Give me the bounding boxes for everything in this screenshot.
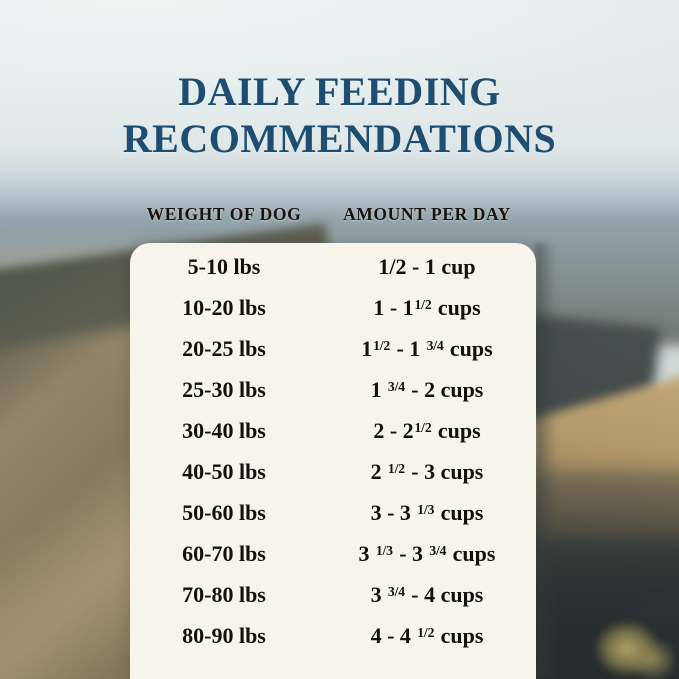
page-title-line-2: RECOMMENDATIONS: [0, 115, 679, 162]
table-row: 60-70 lbs3 1/3 - 3 3/4 cups: [130, 541, 536, 582]
cell-weight: 50-60 lbs: [130, 500, 318, 526]
feeding-chart-graphic: DAILY FEEDING RECOMMENDATIONS WEIGHT OF …: [0, 0, 679, 679]
table-row: 20-25 lbs11/2 - 1 3/4 cups: [130, 336, 536, 377]
table-column-headers: WEIGHT OF DOG AMOUNT PER DAY: [130, 204, 536, 225]
background-card-edge-shadow: [535, 243, 557, 679]
table-row: 5-10 lbs1/2 - 1 cup: [130, 254, 536, 295]
cell-amount: 2 1/2 - 3 cups: [318, 459, 536, 485]
cell-weight: 70-80 lbs: [130, 582, 318, 608]
table-row: 25-30 lbs1 3/4 - 2 cups: [130, 377, 536, 418]
cell-amount: 3 - 3 1/3 cups: [318, 500, 536, 526]
page-title: DAILY FEEDING RECOMMENDATIONS: [0, 68, 679, 162]
cell-weight: 10-20 lbs: [130, 295, 318, 321]
page-title-line-1: DAILY FEEDING: [0, 68, 679, 115]
fraction: 3/4: [387, 584, 406, 599]
fraction: 1/2: [387, 461, 406, 476]
fraction: 1/3: [375, 543, 394, 558]
cell-weight: 40-50 lbs: [130, 459, 318, 485]
fraction: 1/2: [414, 297, 433, 312]
fraction: 1/2: [372, 338, 391, 353]
table-row: 10-20 lbs1 - 11/2 cups: [130, 295, 536, 336]
cell-weight: 25-30 lbs: [130, 377, 318, 403]
table-row: 80-90 lbs4 - 4 1/2 cups: [130, 623, 536, 664]
cell-amount: 4 - 4 1/2 cups: [318, 623, 536, 649]
table-row: 40-50 lbs2 1/2 - 3 cups: [130, 459, 536, 500]
fraction: 1/2: [414, 420, 433, 435]
fraction: 3/4: [426, 338, 445, 353]
cell-weight: 80-90 lbs: [130, 623, 318, 649]
feeding-table-rows: 5-10 lbs1/2 - 1 cup10-20 lbs1 - 11/2 cup…: [130, 254, 536, 664]
cell-amount: 3 1/3 - 3 3/4 cups: [318, 541, 536, 567]
fraction: 3/4: [429, 543, 448, 558]
cell-weight: 20-25 lbs: [130, 336, 318, 362]
cell-weight: 60-70 lbs: [130, 541, 318, 567]
cell-amount: 3 3/4 - 4 cups: [318, 582, 536, 608]
table-row: 50-60 lbs3 - 3 1/3 cups: [130, 500, 536, 541]
cell-amount: 1/2 - 1 cup: [318, 254, 536, 280]
cell-amount: 1 - 11/2 cups: [318, 295, 536, 321]
fraction: 1/2: [416, 625, 435, 640]
cell-amount: 1 3/4 - 2 cups: [318, 377, 536, 403]
cell-amount: 11/2 - 1 3/4 cups: [318, 336, 536, 362]
cell-amount: 2 - 21/2 cups: [318, 418, 536, 444]
fraction: 3/4: [387, 379, 406, 394]
column-header-weight: WEIGHT OF DOG: [130, 204, 318, 225]
background-bush: [588, 608, 674, 679]
fraction: 1/3: [416, 502, 435, 517]
column-header-amount: AMOUNT PER DAY: [318, 204, 536, 225]
cell-weight: 5-10 lbs: [130, 254, 318, 280]
table-row: 70-80 lbs3 3/4 - 4 cups: [130, 582, 536, 623]
cell-weight: 30-40 lbs: [130, 418, 318, 444]
table-row: 30-40 lbs2 - 21/2 cups: [130, 418, 536, 459]
feeding-table-card: 5-10 lbs1/2 - 1 cup10-20 lbs1 - 11/2 cup…: [130, 243, 536, 679]
